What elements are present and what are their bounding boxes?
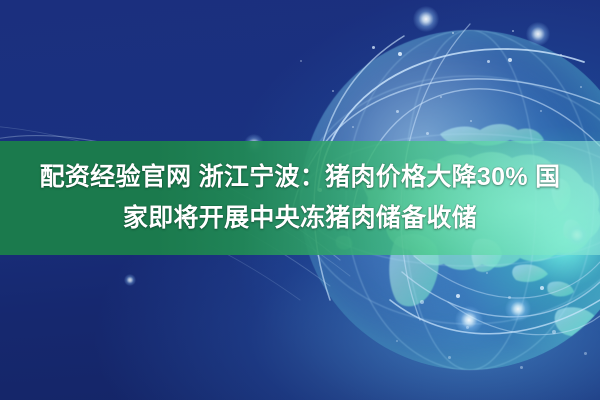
- particle-dot: [470, 120, 472, 122]
- particle-dot: [420, 300, 424, 304]
- particle-dot: [540, 110, 542, 112]
- particle-dot: [396, 340, 398, 342]
- particle-dot: [396, 110, 399, 113]
- particle-dot: [300, 60, 302, 62]
- particle-dot: [584, 352, 587, 355]
- headline: 配资经验官网 浙江宁波：猪肉价格大降30% 国 家即将开展中央冻猪肉储备收储: [0, 141, 600, 255]
- news-banner: 配资经验官网 浙江宁波：猪肉价格大降30% 国 家即将开展中央冻猪肉储备收储: [0, 0, 600, 400]
- network-node-glow: [124, 274, 136, 286]
- network-node: [508, 58, 512, 62]
- particle-dot: [448, 356, 451, 359]
- network-node-glow: [526, 22, 550, 46]
- particle-dot: [426, 132, 429, 135]
- headline-line-1: 配资经验官网 浙江宁波：猪肉价格大降30% 国: [40, 158, 561, 197]
- particle-dot: [552, 330, 556, 334]
- particle-dot: [372, 46, 375, 49]
- particle-dot: [487, 60, 490, 63]
- network-node-glow: [505, 296, 531, 322]
- particle-dot: [440, 96, 442, 98]
- particle-dot: [520, 366, 523, 369]
- network-node-glow: [455, 306, 483, 334]
- particle-dot: [580, 86, 582, 88]
- headline-line-2: 家即将开展中央冻猪肉储备收储: [123, 199, 477, 238]
- particle-dot: [452, 32, 454, 34]
- particle-dot: [486, 272, 488, 274]
- particle-dot: [560, 54, 562, 56]
- network-node-glow: [413, 6, 439, 32]
- network-node: [398, 52, 402, 56]
- network-node: [540, 286, 544, 290]
- particle-dot: [512, 30, 514, 32]
- particle-dot: [332, 90, 334, 92]
- network-node: [456, 294, 460, 298]
- particle-dot: [352, 126, 354, 128]
